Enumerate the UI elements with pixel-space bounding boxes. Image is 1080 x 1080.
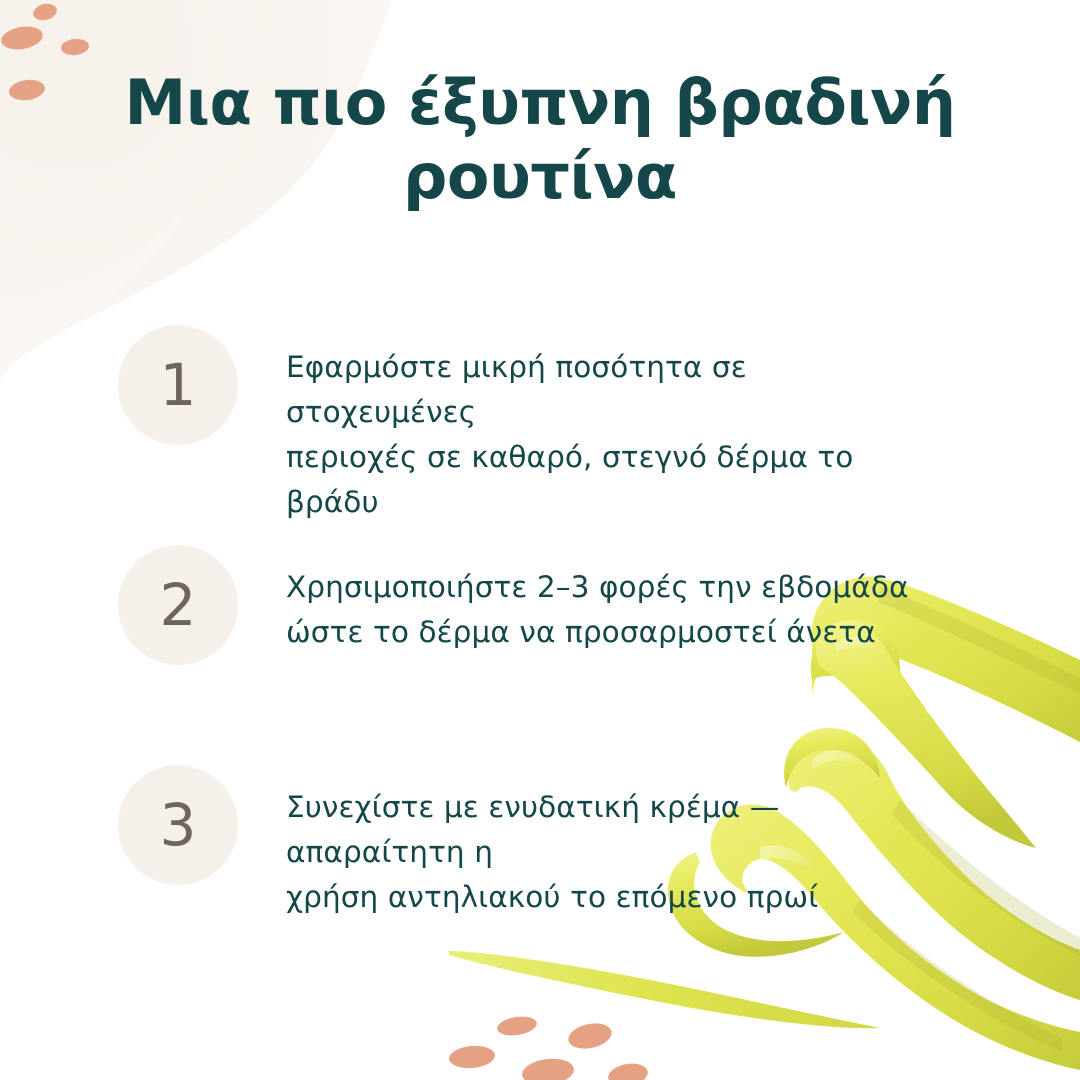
step-description-1: Εφαρμόστε μικρή ποσότητα σε στοχευμένες … — [286, 345, 946, 525]
step-number-badge-3: 3 — [118, 765, 238, 885]
step-number-badge-1: 1 — [118, 325, 238, 445]
routine-step-2: 2 Χρησιμοποιήστε 2–3 φορές την εβδομάδα … — [0, 545, 1080, 765]
step-number-1: 1 — [160, 356, 197, 414]
step-description-line: περιοχές σε καθαρό, στεγνό δέρμα το βράδ… — [286, 435, 946, 525]
page-title-line-1: Μια πιο έξυπνη βραδινή — [120, 66, 960, 140]
step-description-line: χρήση αντηλιακού το επόμενο πρωί — [286, 875, 946, 920]
step-description-2: Χρησιμοποιήστε 2–3 φορές την εβδομάδα ώσ… — [286, 565, 946, 655]
step-number-3: 3 — [160, 796, 197, 854]
routine-step-list: 1 Εφαρμόστε μικρή ποσότητα σε στοχευμένε… — [0, 325, 1080, 985]
step-description-line: Συνεχίστε με ενυδατική κρέμα — απαραίτητ… — [286, 785, 946, 875]
step-description-line: Εφαρμόστε μικρή ποσότητα σε στοχευμένες — [286, 345, 946, 435]
step-number-badge-2: 2 — [118, 545, 238, 665]
step-number-2: 2 — [160, 576, 197, 634]
content-layer: Μια πιο έξυπνη βραδινή ρουτίνα 1 Εφαρμόσ… — [0, 0, 1080, 1080]
page-title: Μια πιο έξυπνη βραδινή ρουτίνα — [120, 66, 960, 214]
routine-step-1: 1 Εφαρμόστε μικρή ποσότητα σε στοχευμένε… — [0, 325, 1080, 545]
step-description-line: Χρησιμοποιήστε 2–3 φορές την εβδομάδα — [286, 565, 946, 610]
routine-step-3: 3 Συνεχίστε με ενυδατική κρέμα — απαραίτ… — [0, 765, 1080, 985]
step-description-3: Συνεχίστε με ενυδατική κρέμα — απαραίτητ… — [286, 785, 946, 920]
poster-canvas: Μια πιο έξυπνη βραδινή ρουτίνα 1 Εφαρμόσ… — [0, 0, 1080, 1080]
page-title-line-2: ρουτίνα — [120, 140, 960, 214]
step-description-line: ώστε το δέρμα να προσαρμοστεί άνετα — [286, 610, 946, 655]
